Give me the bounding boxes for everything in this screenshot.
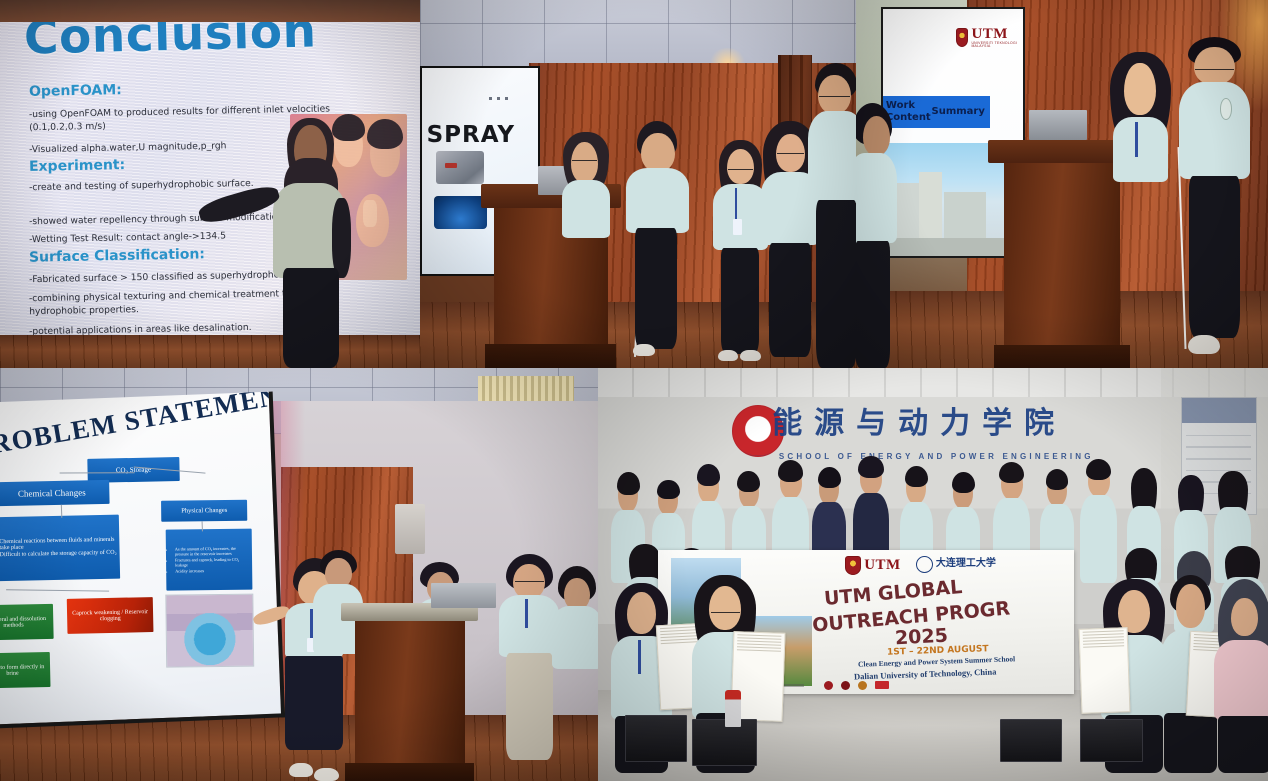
student-far-right: [550, 566, 598, 764]
student-left-side: [856, 103, 897, 368]
co2-reservoir-diagram: [165, 593, 254, 667]
utm-wordmark: UTM: [971, 27, 1022, 42]
banner-dut-chinese: 大连理工大学: [936, 559, 996, 569]
gift-box-3: [1000, 719, 1062, 762]
student-presenter-2: [625, 121, 690, 353]
injector-spray-figure: [434, 196, 487, 229]
flow-outcome-mineral-brine: mineral to form directly in brine: [0, 652, 50, 689]
chem-bullet-2: Difficult to calculate the storage capac…: [0, 550, 117, 558]
water-bottle: [725, 690, 741, 727]
flow-detail-physical-changes: As the amount of CO₂ increases, the pres…: [166, 529, 253, 591]
phys-bullet-2: Fractures and caprock, leading to CO₂ le…: [175, 556, 249, 567]
utm-shirt-crest-icon: [1220, 98, 1232, 119]
banner-dut-logo: 大连理工大学: [916, 556, 996, 573]
connector-chem-outcomes: [6, 589, 109, 591]
photo-group-certificates[interactable]: 能源与动力学院 SCHOOL OF ENERGY AND POWER ENGIN…: [598, 368, 1268, 781]
flow-detail-chemical-changes: Chemical reactions between fluids and mi…: [0, 515, 120, 582]
banner-utm-crest-icon: [845, 556, 861, 575]
student-speaker-female: [1107, 52, 1173, 177]
student-speaker-male: [1177, 37, 1251, 361]
laptop: [1029, 110, 1087, 139]
photo-problem-statement-presentation[interactable]: PROBLEM STATEMENT CO₂ Storage Chemical C…: [0, 368, 598, 781]
student-presenter-5: [808, 63, 856, 368]
phys-bullet-1: As the amount of CO₂ increases, the pres…: [175, 545, 249, 556]
utm-logo-subtitle: UNIVERSITI TEKNOLOGI MALAYSIA: [971, 42, 1022, 49]
front-person-5: [1214, 583, 1268, 773]
engine-diagram-icon: [436, 151, 485, 184]
utm-crest-icon: [956, 28, 969, 47]
presenter-person: [252, 118, 370, 368]
slide-heading-openfoam: OpenFOAM:: [29, 82, 122, 100]
gift-box-1: [625, 715, 687, 762]
slide-title-spray: SPRAY: [427, 122, 515, 148]
flow-node-chemical-changes: Chemical Changes: [0, 479, 109, 506]
banner-subtitle-2: Dalian University of Technology, China: [853, 667, 996, 680]
flow-node-physical-changes: Physical Changes: [161, 500, 247, 522]
photo-collage: Conclusion OpenFOAM: -using OpenFOAM to …: [0, 0, 1268, 781]
gift-box-4: [1080, 719, 1142, 762]
certificate-3: [1079, 627, 1131, 713]
photo-spray-presentation[interactable]: SPRAY: [420, 0, 856, 368]
speaker-box: [395, 504, 425, 554]
banner-utm-logo: UTM: [845, 556, 901, 575]
utm-logo: UTM UNIVERSITI TEKNOLOGI MALAYSIA: [956, 27, 1023, 49]
flow-outcome-caprock-clogging: Caprock weakening / Reservoir clogging: [67, 597, 154, 634]
banner-footer-seals: [824, 681, 889, 690]
flow-outcome-mineral-dissolution: the mineral and dissolution methods: [0, 604, 54, 641]
connector-phys-detail: [202, 521, 203, 531]
photo-conclusion-presentation[interactable]: Conclusion OpenFOAM: -using OpenFOAM to …: [0, 0, 420, 368]
laptop: [431, 583, 497, 608]
phys-bullet-3: Acidity increases: [175, 567, 249, 573]
banner-utm-wordmark: UTM: [864, 558, 901, 573]
slide-title-problem-statement: PROBLEM STATEMENT: [0, 391, 285, 460]
nav-item-summary[interactable]: Summary: [932, 106, 985, 118]
slide-heading-experiment: Experiment:: [29, 157, 125, 175]
slide-dots: [489, 97, 510, 100]
connector-chem-detail: [60, 504, 61, 517]
problem-statement-slide-screen: PROBLEM STATEMENT CO₂ Storage Chemical C…: [0, 391, 285, 728]
ceiling-strip: [0, 0, 420, 22]
podium: [341, 603, 479, 781]
photo-utm-summary-presentation[interactable]: UTM UNIVERSITI TEKNOLOGI MALAYSIA Work C…: [856, 0, 1268, 368]
student-presenter-1: [560, 132, 612, 235]
wall-chinese-title: 能源与动力学院: [772, 409, 1066, 439]
